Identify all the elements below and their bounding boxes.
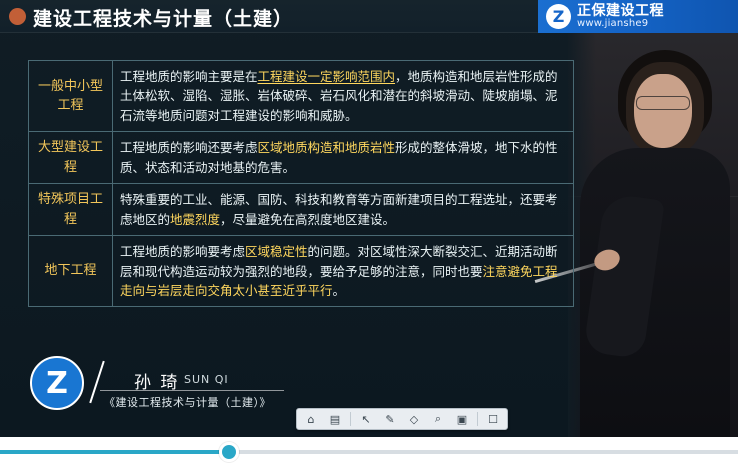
record-indicator-icon (9, 8, 26, 25)
eraser-icon[interactable]: ◇ (403, 410, 425, 428)
table-row: 特殊项目工程特殊重要的工业、能源、国防、科技和教育等方面新建项目的工程选址，还要… (29, 184, 574, 236)
row-category-cell: 地下工程 (29, 236, 113, 307)
row-category-cell: 特殊项目工程 (29, 184, 113, 236)
nameplate-rule (100, 390, 284, 391)
progress-bar-fill (0, 450, 229, 454)
video-surface[interactable]: 建设工程技术与计量（土建） Z 正保建设工程 www.jianshe9 一般中小… (0, 0, 738, 437)
text-segment: 工程地质的影响要考虑 (120, 244, 245, 259)
glasses-icon (636, 96, 690, 110)
screen-icon[interactable]: ☐ (482, 410, 504, 428)
toolbar-separator (477, 412, 478, 426)
cursor-icon[interactable]: ↖ (355, 410, 377, 428)
pen-icon[interactable]: ✎ (379, 410, 401, 428)
toolbar-separator (350, 412, 351, 426)
video-player-window: 建设工程技术与计量（土建） Z 正保建设工程 www.jianshe9 一般中小… (0, 0, 738, 467)
text-segment: 。 (333, 283, 346, 298)
table-row: 一般中小型工程工程地质的影响主要是在工程建设一定影响范围内，地质构造和地层岩性形… (29, 61, 574, 132)
text-segment: 区域稳定性 (245, 244, 308, 259)
annotation-toolbar[interactable]: ⌂▤↖✎◇⌕▣☐ (296, 408, 508, 430)
course-name: 《建设工程技术与计量（土建）》 (104, 394, 271, 410)
slide-content-table: 一般中小型工程工程地质的影响主要是在工程建设一定影响范围内，地质构造和地层岩性形… (28, 60, 574, 307)
nameplate-divider (89, 361, 104, 403)
text-segment: 工程建设一定影响范围内 (258, 69, 396, 84)
brand-logo-icon: Z (546, 4, 571, 29)
progress-bar-track[interactable] (0, 450, 738, 454)
home-icon[interactable]: ⌂ (300, 410, 322, 428)
slide-header: 建设工程技术与计量（土建） Z 正保建设工程 www.jianshe9 (0, 0, 738, 33)
row-category-cell: 大型建设工程 (29, 132, 113, 184)
list-icon[interactable]: ▤ (324, 410, 346, 428)
brand-name: 正保建设工程 (577, 4, 664, 19)
table-row: 地下工程工程地质的影响要考虑区域稳定性的问题。对区域性深大断裂交汇、近期活动断层… (29, 236, 574, 307)
instructor-face (634, 74, 692, 148)
progress-bar-handle[interactable] (219, 442, 239, 462)
text-segment: 工程地质的影响主要是在 (120, 69, 258, 84)
row-description-cell: 工程地质的影响主要是在工程建设一定影响范围内，地质构造和地层岩性形成的土体松软、… (113, 61, 574, 132)
nameplate-logo-icon: Z (30, 356, 84, 410)
text-segment: 工程地质的影响还要考虑 (120, 140, 258, 155)
frame-icon[interactable]: ▣ (451, 410, 473, 428)
page-title: 建设工程技术与计量（土建） (33, 4, 293, 31)
row-description-cell: 工程地质的影响要考虑区域稳定性的问题。对区域性深大断裂交汇、近期活动断层和现代构… (113, 236, 574, 307)
zoom-icon[interactable]: ⌕ (427, 410, 449, 428)
brand-badge: Z 正保建设工程 www.jianshe9 (538, 0, 738, 33)
row-description-cell: 特殊重要的工业、能源、国防、科技和教育等方面新建项目的工程选址，还要考虑地区的地… (113, 184, 574, 236)
text-segment: 地震烈度 (170, 212, 220, 227)
player-control-bar[interactable] (0, 437, 738, 467)
instructor-name: 孙 琦 (134, 368, 179, 393)
instructor-nameplate: Z 孙 琦 SUN QI 《建设工程技术与计量（土建）》 (24, 352, 284, 414)
text-segment: 区域地质构造和地质岩性 (258, 140, 396, 155)
row-description-cell: 工程地质的影响还要考虑区域地质构造和地质岩性形成的整体滑坡，地下水的性质、状态和… (113, 132, 574, 184)
row-category-cell: 一般中小型工程 (29, 61, 113, 132)
brand-url: www.jianshe9 (577, 19, 664, 30)
instructor-pinyin: SUN QI (184, 373, 229, 386)
text-segment: ，尽量避免在高烈度地区建设。 (220, 212, 395, 227)
table-row: 大型建设工程工程地质的影响还要考虑区域地质构造和地质岩性形成的整体滑坡，地下水的… (29, 132, 574, 184)
